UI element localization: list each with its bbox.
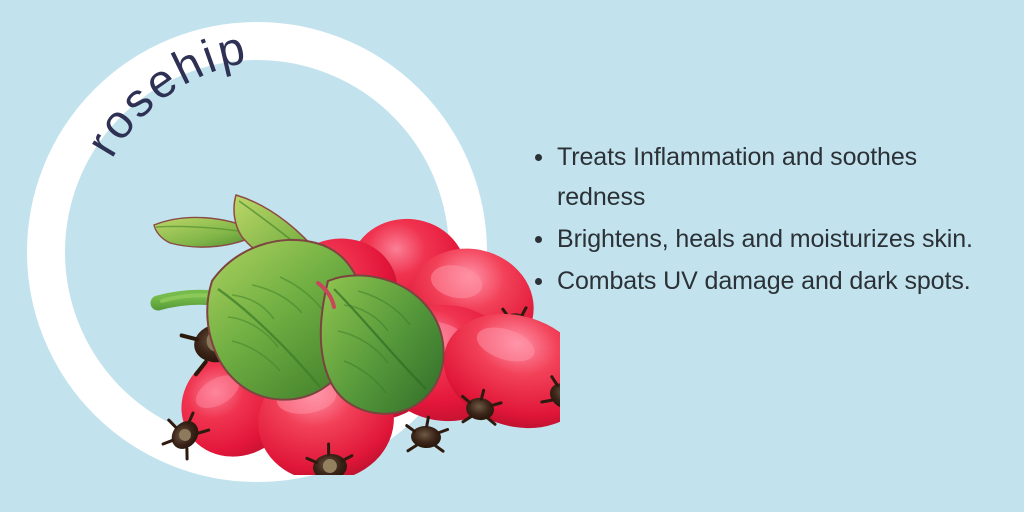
bullet-icon xyxy=(535,154,542,161)
title-text-rosehip: rosehip xyxy=(75,20,252,165)
benefit-item-1: Treats Inflammation and soothes redness xyxy=(528,137,1006,217)
rosehip-ingredient-card: rosehip xyxy=(0,0,1024,512)
benefit-text-3: Combats UV damage and dark spots. xyxy=(557,267,971,295)
benefits-items: Treats Inflammation and soothes redness … xyxy=(528,137,1006,301)
benefit-item-3: Combats UV damage and dark spots. xyxy=(528,261,1006,301)
benefit-text-2: Brightens, heals and moisturizes skin. xyxy=(557,225,973,253)
benefit-item-2: Brightens, heals and moisturizes skin. xyxy=(528,219,1006,259)
benefits-list: Treats Inflammation and soothes redness … xyxy=(528,137,1006,303)
rosehip-berries-image xyxy=(140,185,560,475)
bullet-icon xyxy=(535,236,542,243)
calyx-mid-center xyxy=(405,416,448,454)
benefit-text-1: Treats Inflammation and soothes redness xyxy=(557,143,917,211)
bullet-icon xyxy=(535,278,542,285)
